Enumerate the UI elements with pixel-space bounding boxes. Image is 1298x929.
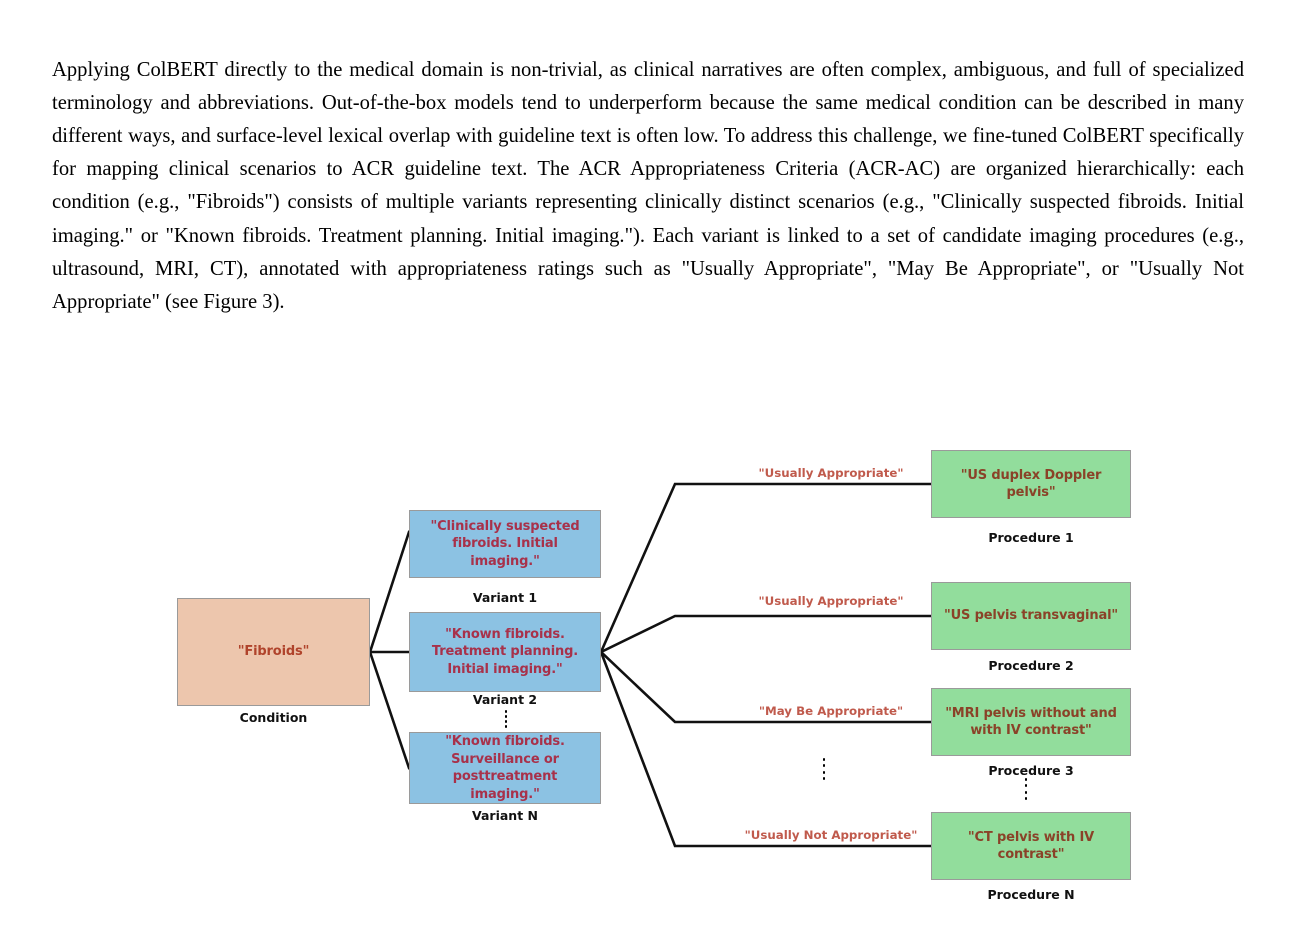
node-procedure-3-label: "MRI pelvis without and with IV contrast… <box>937 705 1125 740</box>
caption-variant-n: Variant N <box>409 808 601 823</box>
caption-variant-2: Variant 2 <box>409 692 601 707</box>
caption-procedure-n: Procedure N <box>931 887 1131 902</box>
node-procedure-2-label: "US pelvis transvaginal" <box>936 607 1126 625</box>
variant-ellipsis-icon <box>504 710 508 728</box>
node-variant-n[interactable]: "Known fibroids. Surveillance or posttre… <box>409 732 601 804</box>
caption-condition: Condition <box>177 710 370 725</box>
procedure-ellipsis-icon <box>1024 778 1028 800</box>
edge-condition-to-variant-1 <box>370 532 409 652</box>
edge-label-rating-1: "Usually Appropriate" <box>731 466 931 480</box>
node-condition-fibroids[interactable]: "Fibroids" <box>177 598 370 706</box>
node-variant-n-label: "Known fibroids. Surveillance or posttre… <box>410 733 600 803</box>
node-variant-2-label: "Known fibroids. Treatment planning. Ini… <box>424 626 586 679</box>
edge-variant-2-to-procedure-n <box>601 652 931 846</box>
caption-procedure-3: Procedure 3 <box>931 763 1131 778</box>
edge-variant-2-to-procedure-2 <box>601 616 931 652</box>
edge-ellipsis-icon <box>822 758 826 780</box>
node-procedure-1[interactable]: "US duplex Doppler pelvis" <box>931 450 1131 518</box>
edge-condition-to-variant-n <box>370 652 409 768</box>
acr-hierarchy-figure: "Fibroids" Condition "Clinically suspect… <box>0 420 1298 920</box>
node-procedure-n-label: "CT pelvis with IV contrast" <box>960 829 1102 864</box>
node-variant-1[interactable]: "Clinically suspected fibroids. Initial … <box>409 510 601 578</box>
node-procedure-3[interactable]: "MRI pelvis without and with IV contrast… <box>931 688 1131 756</box>
node-procedure-1-label: "US duplex Doppler pelvis" <box>953 467 1110 502</box>
node-variant-2[interactable]: "Known fibroids. Treatment planning. Ini… <box>409 612 601 692</box>
edge-label-rating-3: "May Be Appropriate" <box>731 704 931 718</box>
edge-label-rating-2: "Usually Appropriate" <box>731 594 931 608</box>
caption-procedure-2: Procedure 2 <box>931 658 1131 673</box>
caption-procedure-1: Procedure 1 <box>931 530 1131 545</box>
node-variant-1-label: "Clinically suspected fibroids. Initial … <box>410 518 600 571</box>
node-condition-label: "Fibroids" <box>230 643 318 661</box>
node-procedure-n[interactable]: "CT pelvis with IV contrast" <box>931 812 1131 880</box>
body-paragraph: Applying ColBERT directly to the medical… <box>52 54 1244 320</box>
node-procedure-2[interactable]: "US pelvis transvaginal" <box>931 582 1131 650</box>
edge-label-rating-n: "Usually Not Appropriate" <box>731 828 931 842</box>
caption-variant-1: Variant 1 <box>409 590 601 605</box>
